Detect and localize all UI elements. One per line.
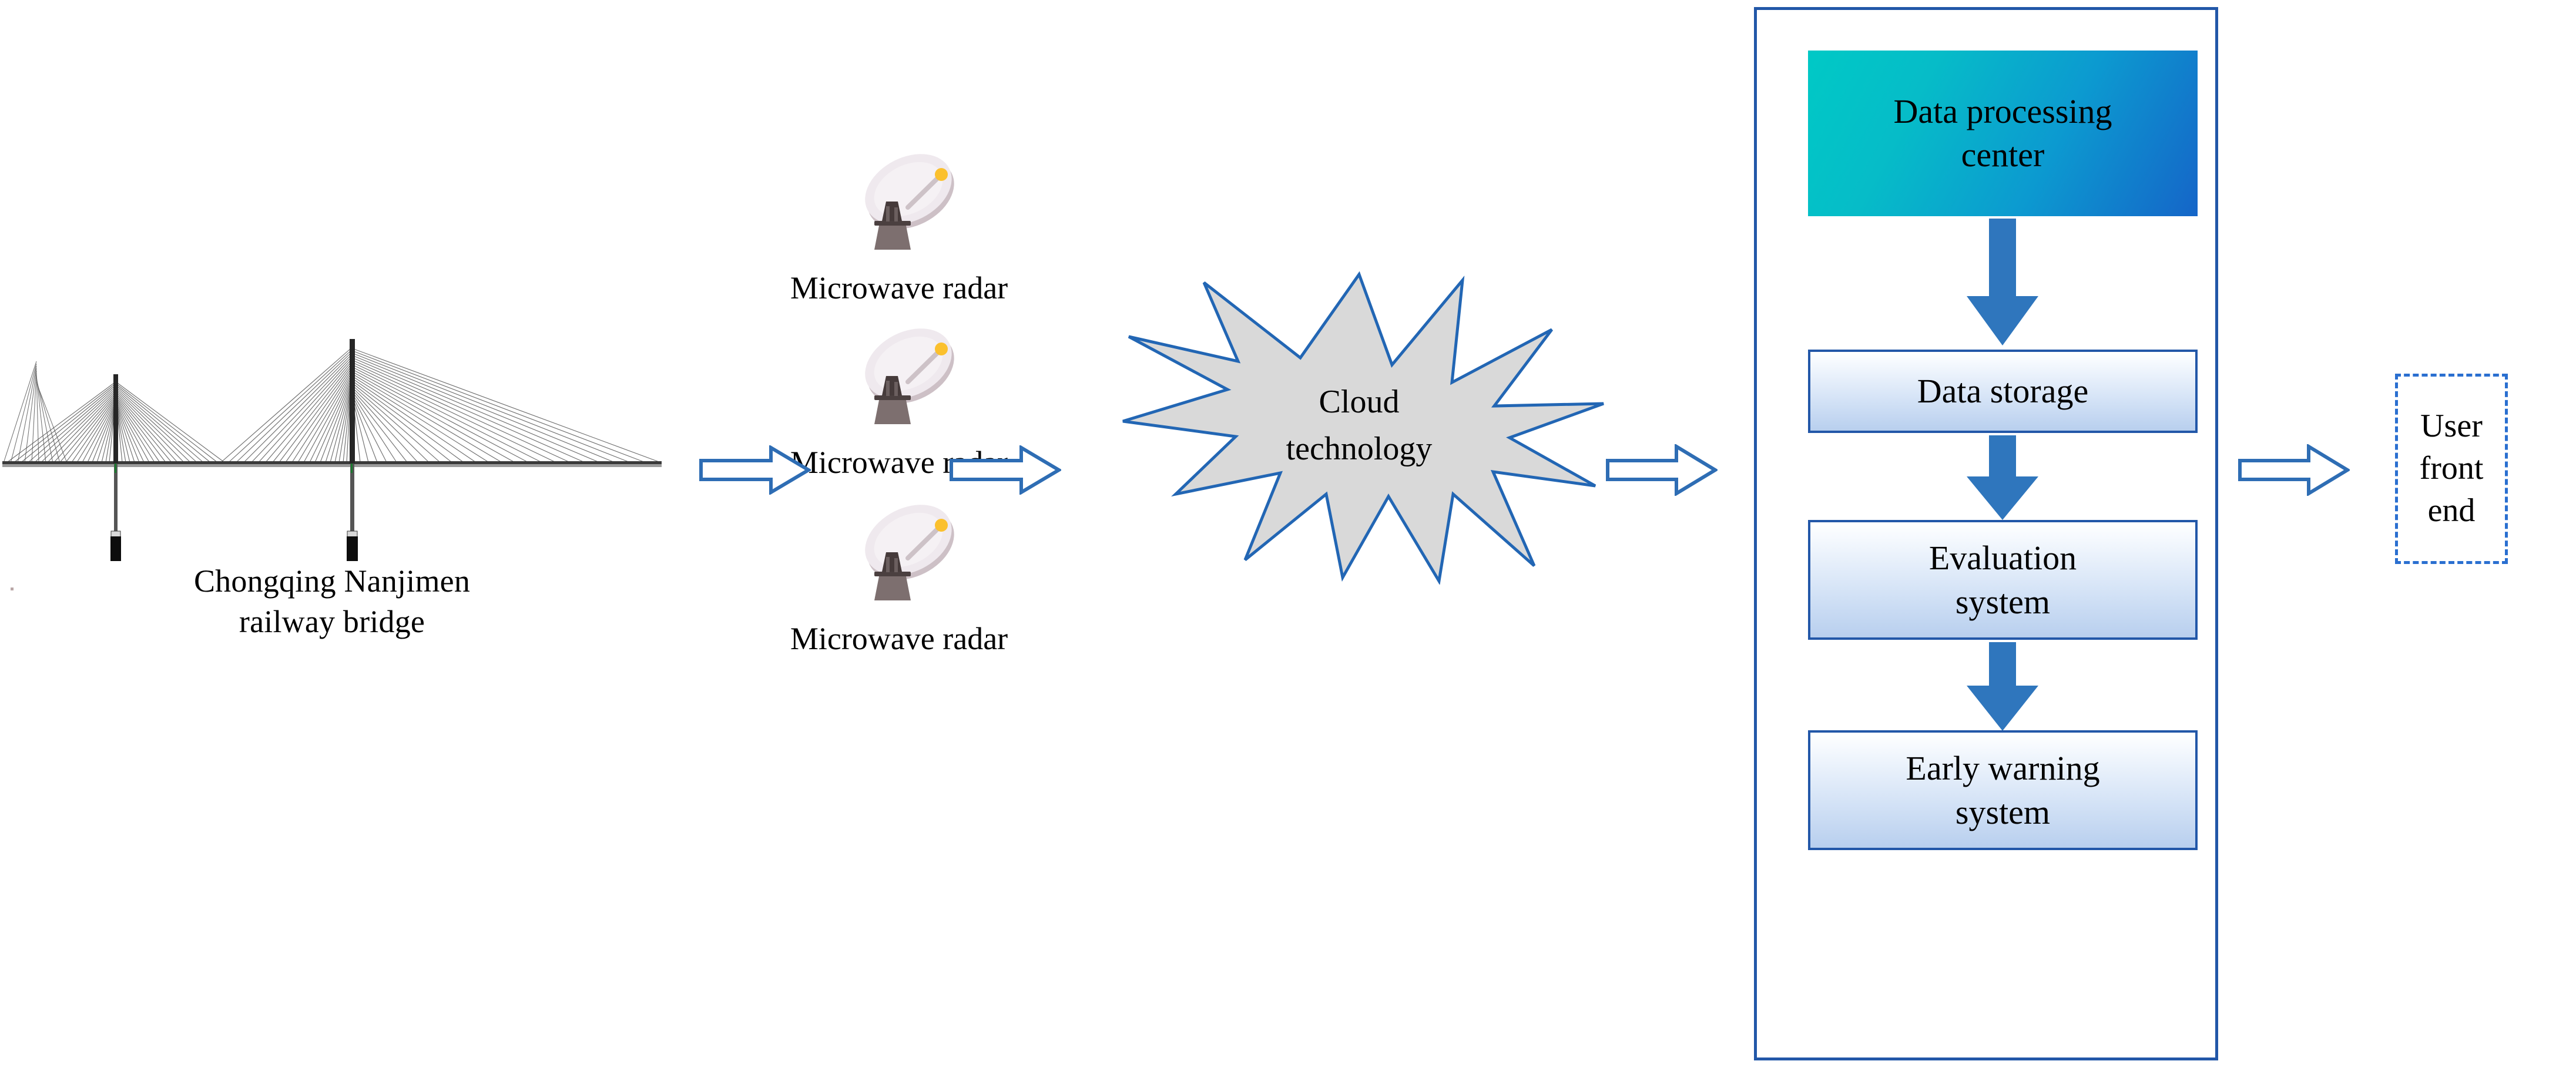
arrow-cloud-to-panel — [1606, 444, 1718, 499]
user-front-end-box[interactable]: User front end — [2395, 374, 2508, 564]
arrow-radar-to-cloud — [950, 445, 1061, 498]
ufe-line3: end — [2420, 490, 2484, 532]
storage-line1: Data storage — [1917, 369, 2088, 413]
satellite-dish-icon — [852, 138, 970, 256]
arrow-evaluation-to-warning — [1965, 642, 2040, 733]
data-storage-box[interactable]: Data storage — [1808, 350, 2198, 433]
satellite-dish-icon — [852, 313, 970, 430]
data-processing-center-text: Data processing center — [1893, 90, 2112, 177]
bridge-caption-line1: Chongqing Nanjimen — [0, 561, 664, 602]
cloud-technology-node: Cloud technology — [1112, 267, 1606, 585]
arrow-panel-to-user — [2238, 444, 2350, 499]
data-storage-text: Data storage — [1917, 369, 2088, 413]
evaluation-system-text: Evaluation system — [1929, 536, 2077, 625]
early-warning-system-box[interactable]: Early warning system — [1808, 730, 2198, 850]
data-processing-center-box[interactable]: Data processing center — [1808, 51, 2198, 216]
arrow-storage-to-evaluation — [1965, 435, 2040, 522]
bridge-cables-and-towers — [0, 294, 664, 564]
bridge-caption: Chongqing Nanjimen railway bridge — [0, 561, 664, 642]
satellite-dish-icon — [852, 489, 970, 606]
ufe-line2: front — [2420, 448, 2484, 490]
sensor-label-1: Microwave radar — [658, 272, 1140, 304]
warn-line1: Early warning — [1906, 746, 2099, 790]
bridge-illustration: Chongqing Nanjimen railway bridge — [0, 294, 664, 740]
eval-line1: Evaluation — [1929, 536, 2077, 580]
dpc-line2: center — [1893, 133, 2112, 177]
explosion-star-shape — [1112, 267, 1606, 585]
arrow-bridge-to-radar — [699, 445, 811, 498]
sensor-label-3: Microwave radar — [658, 623, 1140, 654]
evaluation-system-box[interactable]: Evaluation system — [1808, 520, 2198, 640]
stray-speck — [11, 587, 14, 590]
dpc-line1: Data processing — [1893, 90, 2112, 133]
user-front-end-text: User front end — [2420, 405, 2484, 532]
eval-line2: system — [1929, 580, 2077, 624]
ufe-line1: User — [2420, 405, 2484, 448]
bridge-caption-line2: railway bridge — [0, 602, 664, 642]
early-warning-system-text: Early warning system — [1906, 746, 2099, 835]
warn-line2: system — [1906, 790, 2099, 834]
arrow-dpc-to-storage — [1965, 219, 2040, 348]
